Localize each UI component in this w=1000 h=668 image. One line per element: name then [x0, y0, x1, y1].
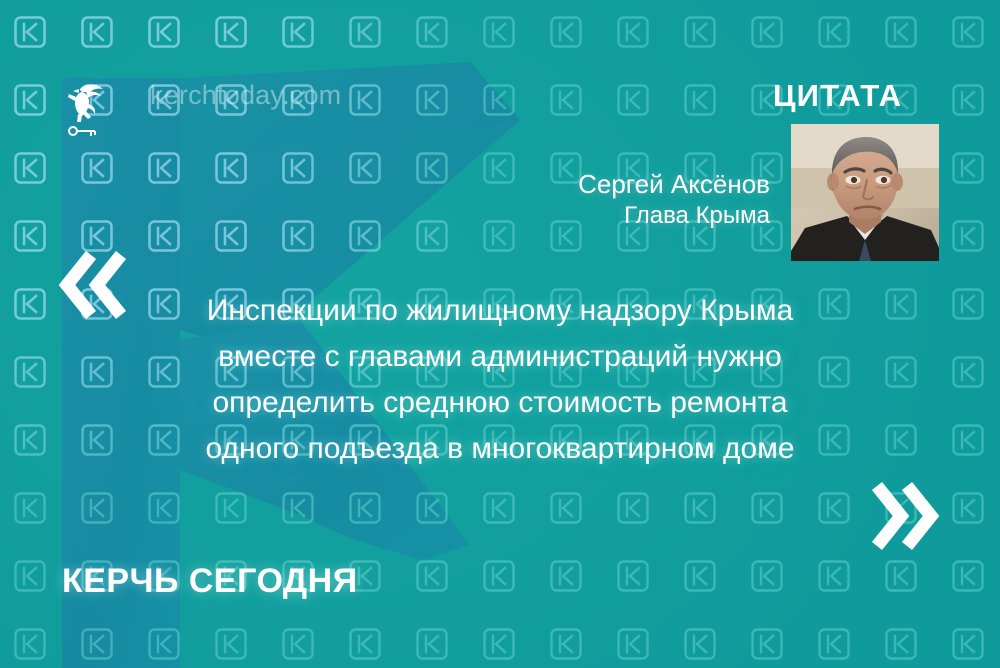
quote-card: kerchtoday.com ЦИТАТА: [0, 0, 1000, 668]
quote-line: вместе с главами администраций нужно: [60, 334, 940, 380]
speaker-role: Глава Крыма: [578, 201, 770, 232]
quote-line: Инспекции по жилищному надзору Крыма: [60, 288, 940, 334]
griffin-logo-icon: [62, 78, 106, 142]
speaker-info: Сергей Аксёнов Глава Крыма: [578, 168, 770, 232]
citation-label: ЦИТАТА: [730, 78, 945, 114]
quote-line: определить среднюю стоимость ремонта: [60, 380, 940, 426]
brand-name: КЕРЧЬ СЕГОДНЯ: [62, 562, 358, 601]
quote-line: одного подъезда в многоквартирном доме: [60, 426, 940, 472]
site-url-watermark: kerchtoday.com: [150, 80, 341, 111]
quote-text: Инспекции по жилищному надзору Крыма вме…: [60, 288, 940, 472]
speaker-portrait: [791, 124, 939, 261]
speaker-name: Сергей Аксёнов: [578, 168, 770, 201]
